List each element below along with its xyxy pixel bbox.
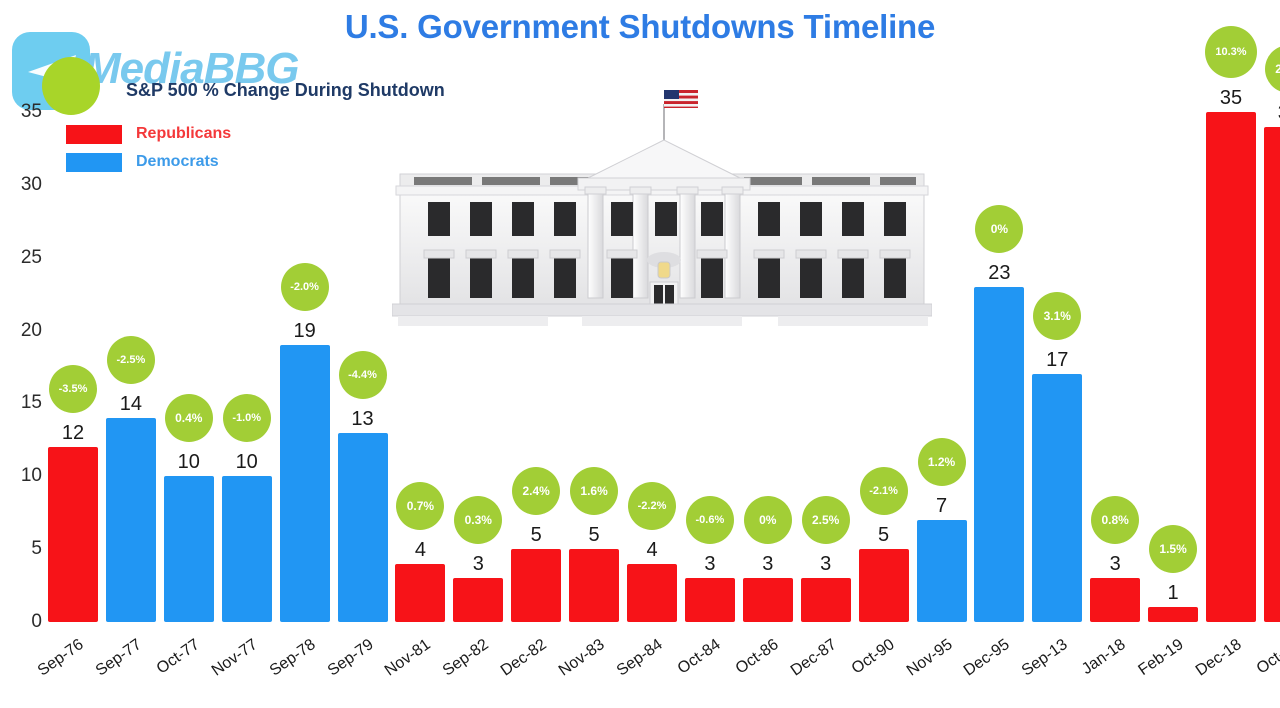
bar-feb-19[interactable] [1148, 607, 1198, 622]
sp500-change-bubble: -1.0% [223, 394, 271, 442]
plot-area: 0510152025303512-3.5%Sep-7614-2.5%Sep-77… [0, 0, 1280, 696]
sp500-change-bubble: 0% [744, 496, 792, 544]
bar-value-label: 13 [338, 408, 388, 431]
sp500-change-bubble: 1.5% [1149, 525, 1197, 573]
y-axis-tick: 10 [8, 465, 42, 487]
bar-nov-95[interactable] [917, 520, 967, 622]
bar-sep-76[interactable] [48, 447, 98, 622]
bar-value-label: 3 [685, 553, 735, 576]
y-axis-tick: 0 [8, 611, 42, 633]
bar-nov-83[interactable] [569, 549, 619, 622]
bar-value-label: 10 [222, 451, 272, 474]
bar-sep-79[interactable] [338, 433, 388, 622]
bar-nov-81[interactable] [395, 564, 445, 622]
bar-value-label: 23 [974, 262, 1024, 285]
sp500-change-bubble: -2.2% [628, 482, 676, 530]
sp500-change-bubble: 2.5% [802, 496, 850, 544]
bar-value-label: 5 [859, 524, 909, 547]
bar-sep-82[interactable] [453, 578, 503, 622]
bar-dec-82[interactable] [511, 549, 561, 622]
bar-value-label: 4 [627, 539, 677, 562]
bar-oct-25[interactable] [1264, 127, 1280, 622]
sp500-change-bubble: 1.6% [570, 467, 618, 515]
bar-value-label: 14 [106, 393, 156, 416]
sp500-change-bubble: 0% [975, 205, 1023, 253]
sp500-change-bubble: 3.1% [1033, 292, 1081, 340]
bar-sep-13[interactable] [1032, 374, 1082, 622]
sp500-change-bubble: -0.6% [686, 496, 734, 544]
bar-value-label: 3 [801, 553, 851, 576]
chart-canvas: U.S. Government Shutdowns Timeline Media… [0, 0, 1280, 696]
bar-value-label: 5 [511, 524, 561, 547]
bar-value-label: 34 [1264, 102, 1280, 125]
sp500-change-bubble: 0.7% [396, 482, 444, 530]
bar-value-label: 3 [453, 553, 503, 576]
sp500-change-bubble: 1.2% [918, 438, 966, 486]
bar-value-label: 3 [1090, 553, 1140, 576]
bar-sep-77[interactable] [106, 418, 156, 622]
bar-value-label: 19 [280, 320, 330, 343]
bar-value-label: 7 [917, 495, 967, 518]
bar-value-label: 1 [1148, 582, 1198, 605]
bar-jan-18[interactable] [1090, 578, 1140, 622]
bar-value-label: 4 [395, 539, 445, 562]
bar-dec-95[interactable] [974, 287, 1024, 622]
y-axis-tick: 30 [8, 174, 42, 196]
bar-value-label: 10 [164, 451, 214, 474]
bar-sep-84[interactable] [627, 564, 677, 622]
bar-dec-18[interactable] [1206, 112, 1256, 622]
sp500-change-bubble: -4.4% [339, 351, 387, 399]
sp500-change-bubble: 2.3% [1265, 45, 1280, 93]
bar-oct-84[interactable] [685, 578, 735, 622]
bar-value-label: 35 [1206, 87, 1256, 110]
bar-value-label: 5 [569, 524, 619, 547]
bar-dec-87[interactable] [801, 578, 851, 622]
bar-value-label: 3 [743, 553, 793, 576]
sp500-change-bubble: 0.3% [454, 496, 502, 544]
bar-oct-90[interactable] [859, 549, 909, 622]
sp500-change-bubble: 0.4% [165, 394, 213, 442]
sp500-change-bubble: 0.8% [1091, 496, 1139, 544]
bar-oct-77[interactable] [164, 476, 214, 622]
y-axis-tick: 5 [8, 538, 42, 560]
bar-value-label: 12 [48, 422, 98, 445]
sp500-change-bubble: 2.4% [512, 467, 560, 515]
y-axis-tick: 25 [8, 247, 42, 269]
bar-oct-86[interactable] [743, 578, 793, 622]
sp500-change-bubble: 10.3% [1205, 26, 1257, 78]
sp500-change-bubble: -3.5% [49, 365, 97, 413]
y-axis-tick: 20 [8, 320, 42, 342]
sp500-change-bubble: -2.1% [860, 467, 908, 515]
sp500-change-bubble: -2.0% [281, 263, 329, 311]
y-axis-tick: 15 [8, 392, 42, 414]
bar-sep-78[interactable] [280, 345, 330, 622]
y-axis-tick: 35 [8, 101, 42, 123]
sp500-change-bubble: -2.5% [107, 336, 155, 384]
bar-nov-77[interactable] [222, 476, 272, 622]
bar-value-label: 17 [1032, 349, 1082, 372]
